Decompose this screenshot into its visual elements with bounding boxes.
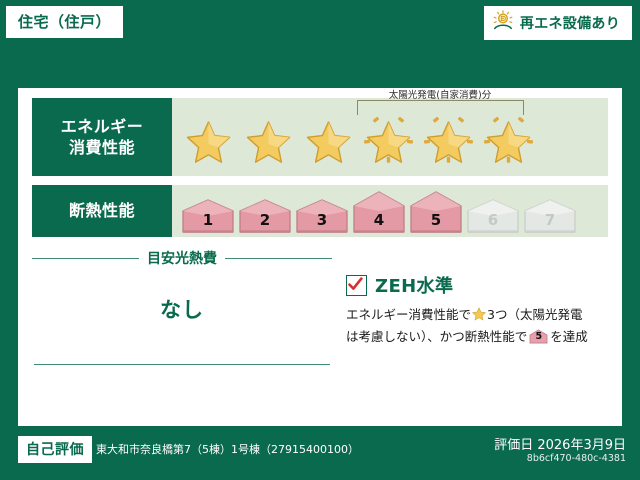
zeh-block: ZEH水準 エネルギー消費性能で 3つ（太陽光発電 は考慮しない）、かつ断熱性能…	[346, 272, 608, 348]
evaluation-id: 8b6cf470-480c-4381	[527, 453, 626, 464]
insulation-level-number: 4	[352, 211, 406, 229]
energy-label-line2: 消費性能	[69, 137, 135, 158]
solar-bracket	[357, 100, 524, 115]
zeh-desc-part2: 3つ（太陽光発電	[487, 307, 582, 322]
star-icon-solar	[362, 114, 415, 166]
heading-rule-left	[32, 258, 139, 259]
zeh-level-badge: 5	[529, 329, 548, 344]
zeh-desc-part4: を達成	[550, 329, 588, 344]
insulation-level-number: 2	[238, 211, 292, 229]
star-icon	[302, 114, 355, 166]
insulation-level-3: 3	[295, 198, 349, 234]
utility-cost-bottom-rule	[34, 364, 330, 365]
energy-stars-area: 太陽光発電(自家消費)分	[172, 98, 608, 176]
inline-star-icon	[472, 307, 486, 327]
building-type-tag: 住宅（住戸）	[6, 6, 123, 38]
insulation-level-7: 7	[523, 198, 577, 234]
star-icon-solar	[482, 114, 535, 166]
insulation-performance-row: 断熱性能 1 2 3 4 5	[32, 185, 608, 237]
insulation-level-5: 5	[409, 190, 463, 234]
insulation-level-number: 7	[523, 211, 577, 229]
insulation-level-1: 1	[181, 198, 235, 234]
zeh-description: エネルギー消費性能で 3つ（太陽光発電 は考慮しない）、かつ断熱性能で 5 を達…	[346, 305, 608, 348]
insulation-level-4: 4	[352, 190, 406, 234]
solar-sun-icon	[492, 10, 514, 35]
insulation-level-number: 1	[181, 211, 235, 229]
renewable-equipment-badge: 再エネ設備あり	[484, 6, 632, 40]
energy-label-line1: エネルギー	[61, 116, 144, 137]
property-address: 東大和市奈良橋第7（5棟）1号棟（27915400100）	[96, 441, 359, 457]
insulation-level-scale: 1 2 3 4 5 6 7	[181, 190, 577, 234]
zeh-level-badge-number: 5	[529, 329, 548, 344]
zeh-title: ZEH水準	[375, 272, 453, 298]
heading-rule-right	[225, 258, 332, 259]
utility-cost-title: 目安光熱費	[147, 248, 217, 268]
evaluation-date: 評価日 2026年3月9日	[494, 434, 626, 453]
utility-cost-block: 目安光熱費 なし	[32, 248, 332, 324]
insulation-row-label: 断熱性能	[32, 185, 172, 237]
energy-star-rating	[182, 114, 535, 166]
insulation-levels-area: 1 2 3 4 5 6 7	[172, 185, 608, 237]
zeh-checkbox[interactable]	[346, 275, 367, 296]
insulation-level-6: 6	[466, 198, 520, 234]
star-icon-solar	[422, 114, 475, 166]
label-title: 省エネ性能ラベル	[0, 57, 640, 92]
insulation-label-text: 断熱性能	[69, 200, 135, 221]
star-icon	[182, 114, 235, 166]
insulation-level-number: 5	[409, 211, 463, 229]
insulation-level-2: 2	[238, 198, 292, 234]
zeh-desc-part3: は考慮しない）、かつ断熱性能で	[346, 329, 527, 344]
label-footer: 自己評価 東大和市奈良橋第7（5棟）1号棟（27915400100） 評価日 2…	[0, 426, 640, 480]
self-evaluation-badge: 自己評価	[18, 436, 92, 463]
energy-performance-row: エネルギー 消費性能 太陽光発電(自家消費)分	[32, 98, 608, 176]
insulation-level-number: 3	[295, 211, 349, 229]
lower-section: 目安光熱費 なし ZEH水準 エネルギー消費性能で	[32, 248, 608, 416]
zeh-heading: ZEH水準	[346, 272, 608, 298]
utility-cost-heading: 目安光熱費	[32, 248, 332, 268]
renewable-badge-label: 再エネ設備あり	[520, 13, 620, 33]
energy-performance-row-label: エネルギー 消費性能	[32, 98, 172, 176]
star-icon	[242, 114, 295, 166]
check-icon	[348, 277, 363, 292]
label-content: エネルギー 消費性能 太陽光発電(自家消費)分	[32, 98, 608, 416]
energy-performance-label: 住宅（住戸） 再エネ設備あり 建築物省エネ法に基づく 省エネ性能	[0, 0, 640, 480]
zeh-desc-part1: エネルギー消費性能で	[346, 307, 471, 322]
utility-cost-value: なし	[32, 294, 332, 324]
insulation-level-number: 6	[466, 211, 520, 229]
